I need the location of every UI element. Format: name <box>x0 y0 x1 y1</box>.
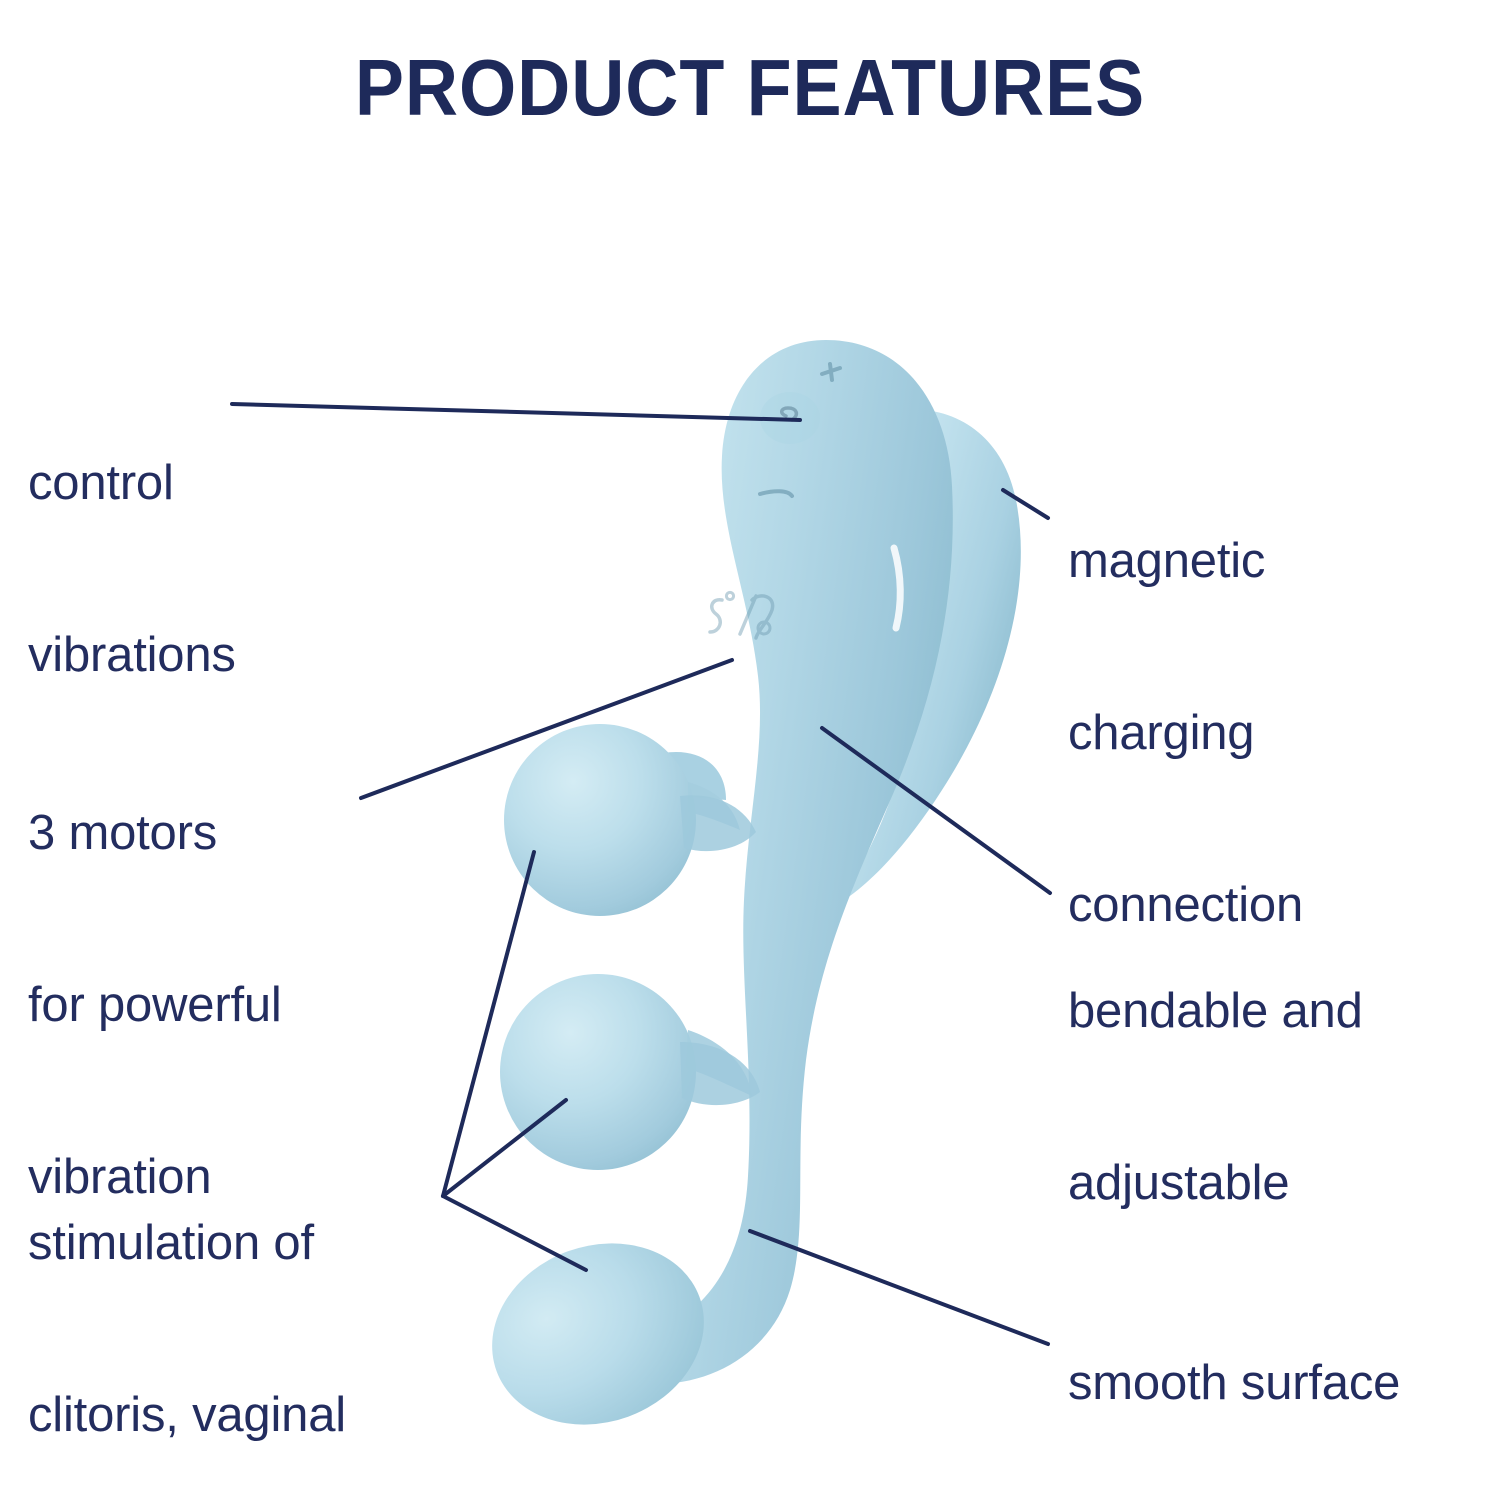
callout-line: vibrations <box>28 627 236 684</box>
lower-bulb <box>466 1214 729 1453</box>
callout-line: for powerful <box>28 977 282 1034</box>
callout-line: bendable and <box>1068 983 1363 1040</box>
callout-line: clitoris, vaginal <box>28 1387 349 1444</box>
product-features-infographic: PRODUCT FEATURES <box>0 0 1500 1500</box>
callout-line: stimulation of <box>28 1215 349 1272</box>
callout-stimulation: stimulation of clitoris, vaginal entry a… <box>28 1100 349 1500</box>
callout-line: control <box>28 455 236 512</box>
power-button-icon[interactable] <box>760 392 820 444</box>
callout-line: adjustable <box>1068 1155 1363 1212</box>
callout-line: smooth surface <box>1068 1355 1400 1412</box>
callout-line: 3 motors <box>28 805 282 862</box>
callout-smooth-surface: smooth surface made of body- friendly si… <box>1068 1240 1400 1500</box>
callout-line: charging <box>1068 705 1303 762</box>
callout-line: magnetic <box>1068 533 1303 590</box>
